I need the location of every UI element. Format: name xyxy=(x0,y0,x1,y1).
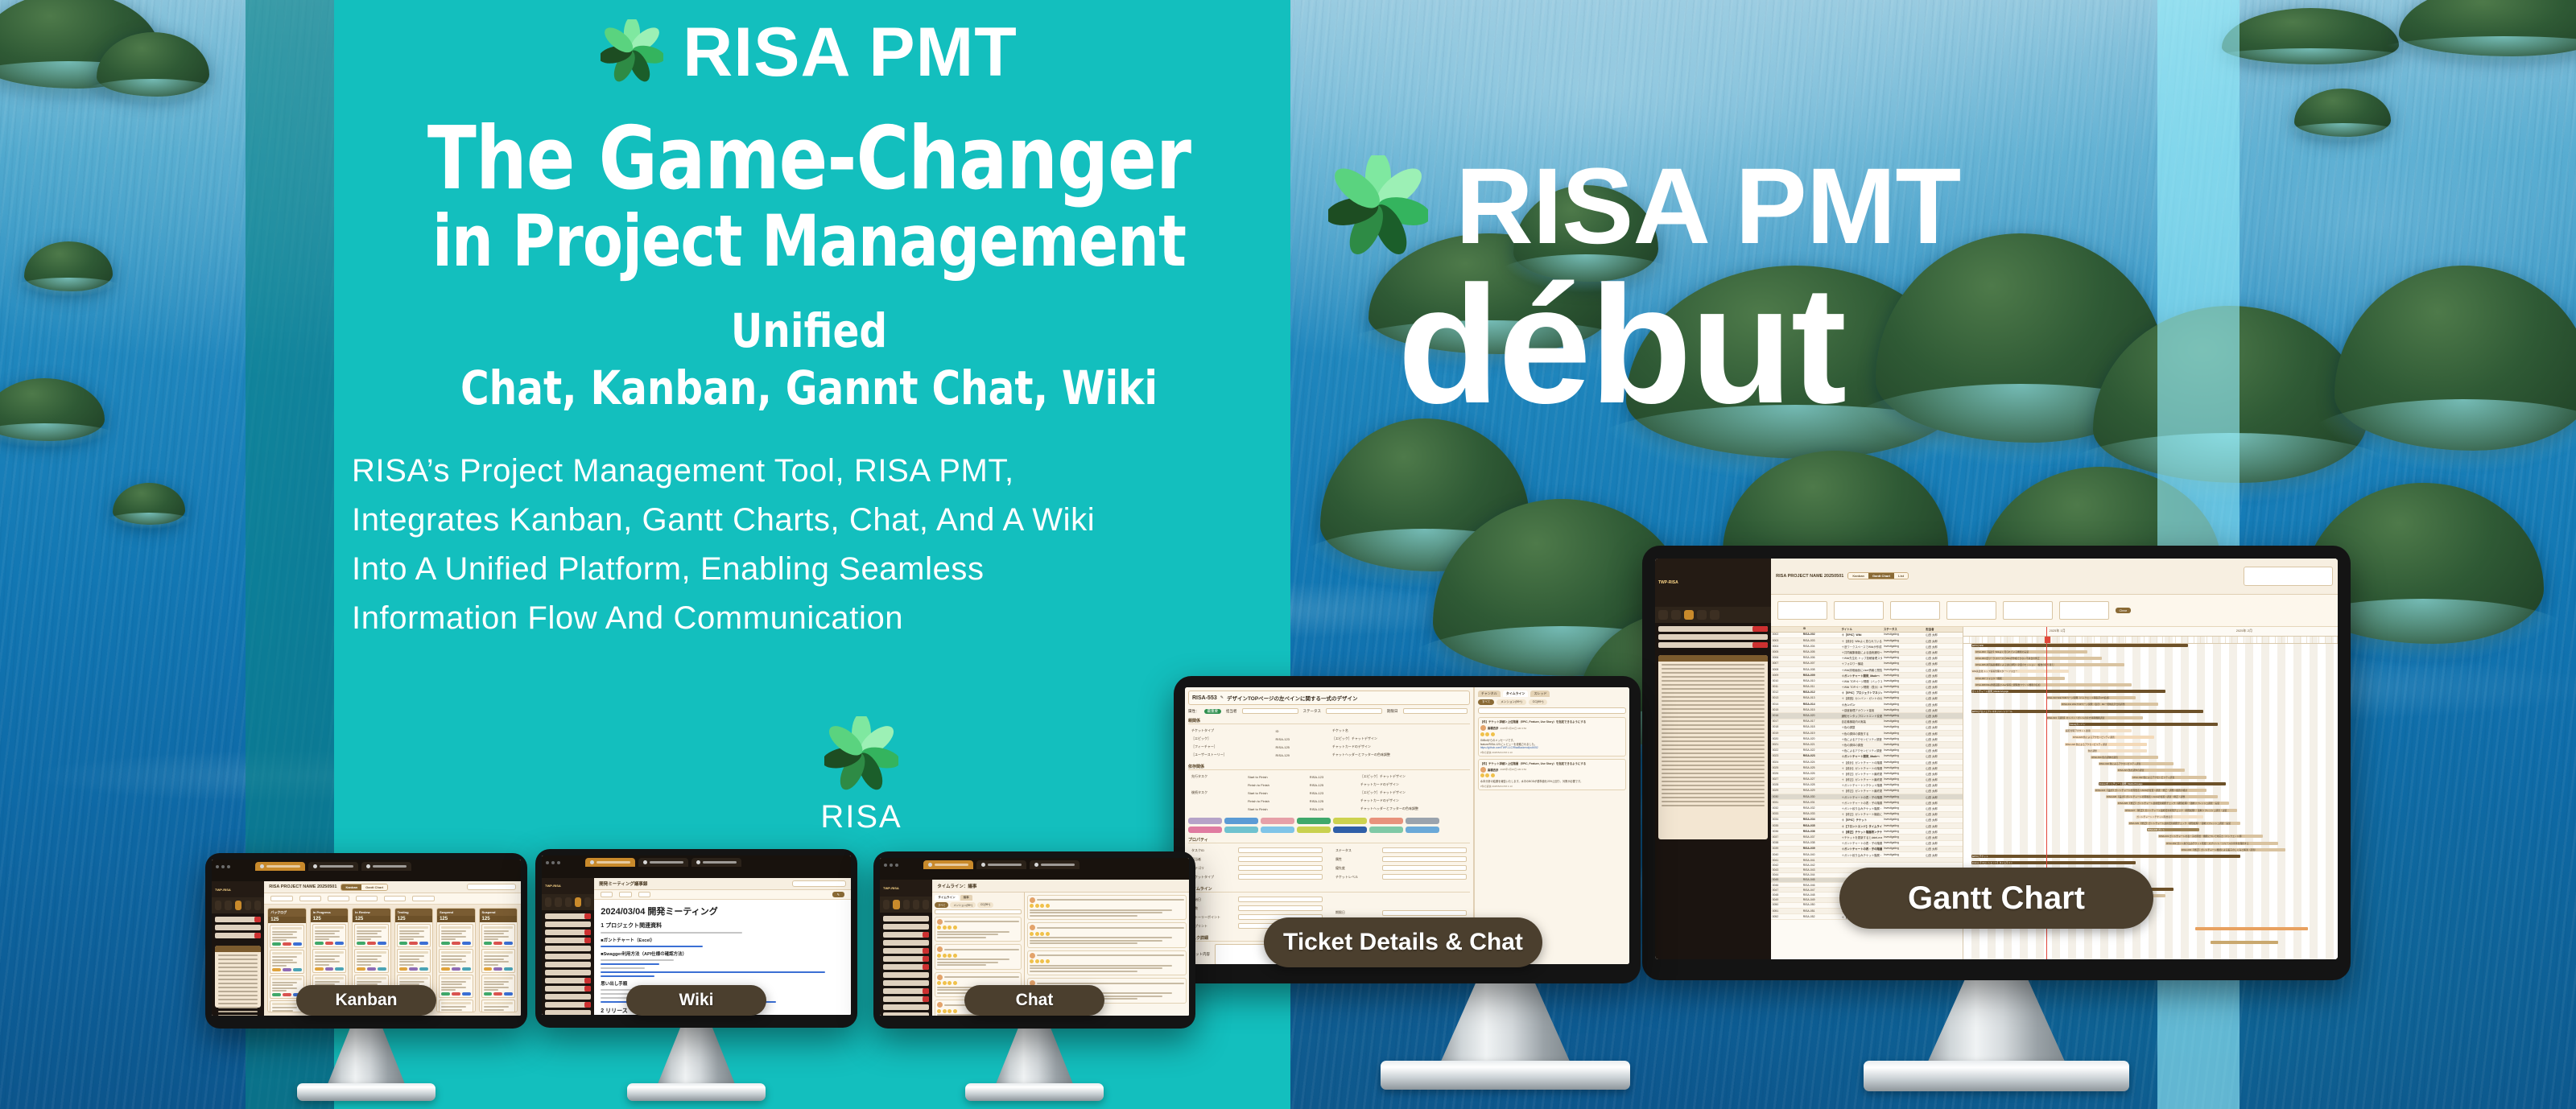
risa-watermark: RISA xyxy=(785,716,938,835)
list-item[interactable] xyxy=(883,996,929,1002)
avatar xyxy=(937,946,943,952)
gantt-row[interactable]: 0022RISA-022＋色によるアクセンビリティ調査Investigating… xyxy=(1771,748,1963,754)
tab-timeline[interactable]: タイムライン xyxy=(935,895,958,901)
sidebar-wiki-tree[interactable] xyxy=(542,910,594,1015)
kanban-card[interactable] xyxy=(270,925,303,949)
gantt-row[interactable]: 0030RISA-030＋ガントチャートの表・子の階層・階級Investigat… xyxy=(1771,794,1963,800)
gantt-row[interactable]: 0012RISA-012＋［EPIC］プロジェクトマネジメントツールInvest… xyxy=(1771,691,1963,696)
filter-release[interactable] xyxy=(2059,601,2109,620)
filter-ticket-level[interactable] xyxy=(1777,601,1827,620)
list-item[interactable] xyxy=(545,994,591,1000)
gantt-bar[interactable]: [EPIC]プロジェクトマネジメントツール xyxy=(1971,710,2203,713)
tab-gantt[interactable]: Gantt Chart xyxy=(1868,573,1894,579)
gantt-row[interactable]: 0023RISA-023＋ガントチャート開発_Made～Investigatin… xyxy=(1771,754,1963,760)
gantt-row[interactable]: 0010RISA-010＋Wiki TOPページ開発（バックエンド用）Inves… xyxy=(1771,678,1963,684)
gantt-bar[interactable]: ガントチャート開発_MaidenVoyage xyxy=(1971,690,2166,693)
gantt-bar[interactable]: RISA-029 【修正】ガントチャート最終更新期限チェック（期限処理）・強制リ… xyxy=(2128,822,2240,825)
gantt-bar[interactable]: RISA-026 【修正】ガントチャート最終更新期限チェック（期限処理）・強制リ… xyxy=(2117,802,2229,805)
gantt-bar[interactable]: RISA-024 【設計】ガントチャートの階層表＞AGGの位置＞調査・修正・調整… xyxy=(2095,789,2207,792)
ticket-label-chip[interactable] xyxy=(1406,827,1439,833)
ticket-id: RISA-553 xyxy=(1192,695,1217,701)
chat-message[interactable] xyxy=(1027,922,1187,948)
ticket-label-chip[interactable] xyxy=(1188,818,1222,824)
row-number: 0041 xyxy=(1771,858,1802,862)
gantt-bar[interactable]: RISA-033 【修正】ガントチャート機能による差子のしくみと解消（調査） xyxy=(2181,848,2285,851)
card-chip xyxy=(283,993,291,996)
card-chip-row xyxy=(357,942,386,945)
sidebar-manual-header xyxy=(1658,655,1768,662)
ticket-label-chip[interactable] xyxy=(1369,827,1403,833)
kanban-card[interactable] xyxy=(354,924,388,948)
sidebar-item-tracking[interactable] xyxy=(1684,610,1694,620)
kanban-card[interactable] xyxy=(481,1000,515,1012)
kanban-card-list[interactable] xyxy=(437,922,474,1012)
wiki-link[interactable] xyxy=(601,963,659,966)
filter-mention[interactable]: メンション(99+) xyxy=(950,902,975,908)
sidebar-item-chat[interactable] xyxy=(555,897,561,907)
project-topbar: RISA PROJECT NAME 20250501 Kanban Gantt … xyxy=(1771,559,2338,595)
gantt-row[interactable]: 0040RISA-040＋ガント絞り込みチケット階層・ユ～Investigati… xyxy=(1771,852,1963,858)
gantt-row[interactable]: 0005RISA-005＋共同編集機能による連続通知～全面の～Investiga… xyxy=(1771,649,1963,655)
ticket-label-chip[interactable] xyxy=(1224,827,1258,833)
list-item[interactable] xyxy=(883,1004,929,1010)
sidebar-item-wiki[interactable] xyxy=(1697,610,1707,620)
ticket-label-chip[interactable] xyxy=(1333,818,1367,824)
body-copy: RISA’s Project Management Tool, RISA PMT… xyxy=(334,447,1284,642)
gantt-bar[interactable]: 色の調整 xyxy=(2087,749,2147,752)
gantt-bar[interactable]: RISA-007 フォロワー機能 xyxy=(1975,677,2064,680)
sidebar-item-tracking[interactable] xyxy=(565,897,572,907)
gantt-bar[interactable]: RISA-025 【設計】ガントチャートの階層表＞AGGの位置＞調査・修正・調整 xyxy=(2106,795,2218,798)
gantt-row[interactable]: 0007RISA-007＋フォロワー機能Investigating山田 太郎 xyxy=(1771,662,1963,667)
gantt-bar[interactable]: RISA-031 ガントチャートの表・子の階層・機能について対応さ（バックエンド… xyxy=(2158,835,2263,838)
day-cell xyxy=(2038,637,2045,643)
monitor-stand-kanban xyxy=(205,1026,527,1109)
reaction-row[interactable] xyxy=(937,926,1019,930)
gantt-row[interactable]: 0025RISA-025＋【設計】ガントチャートの階層表＞AGG～Investi… xyxy=(1771,765,1963,771)
message-reply-meta[interactable]: 3件の返信 2025/5/24 PM 1:13 xyxy=(1480,785,1624,788)
gantt-row[interactable]: 0037RISA-037＋チケットを更新するとdateLevelがない～Inve… xyxy=(1771,835,1963,840)
browser-tabs[interactable] xyxy=(255,862,411,871)
list-item[interactable] xyxy=(215,917,261,922)
list-item[interactable] xyxy=(545,986,591,992)
list-item[interactable] xyxy=(545,1002,591,1008)
search-input[interactable] xyxy=(467,884,516,890)
browser-tab[interactable] xyxy=(255,862,305,871)
browser-tab[interactable] xyxy=(976,860,1026,869)
gantt-row[interactable]: 0031RISA-031＋ガントチャートの表・子の階層・階級Investigat… xyxy=(1771,800,1963,806)
row-number: 0040 xyxy=(1771,852,1802,857)
priority-label: 属性： xyxy=(1188,709,1199,714)
kanban-card[interactable] xyxy=(270,950,303,974)
search-input[interactable] xyxy=(792,880,846,887)
message-link[interactable]: https://github.com/TWP-LLC/RisaBackend/p… xyxy=(1480,746,1624,749)
row-assignee: 山田 太郎 xyxy=(1925,754,1963,759)
row-title: ＋旧ワークスペースでWikiが作成できない xyxy=(1840,644,1882,649)
list-item[interactable] xyxy=(215,933,261,938)
list-item[interactable] xyxy=(545,938,591,943)
ticket-label-chip[interactable] xyxy=(1333,827,1367,833)
gantt-bar[interactable]: ガントチャート＞チケット階層表示 xyxy=(2136,815,2203,818)
wiki-link[interactable] xyxy=(601,971,825,974)
gantt-bar[interactable]: RISA-020 色によるアクセンビリティ調査 xyxy=(2065,743,2147,746)
reaction-row[interactable] xyxy=(1480,773,1624,777)
kanban-card-list[interactable] xyxy=(480,922,517,1012)
row-id: RISA-017 xyxy=(1802,719,1840,724)
list-item[interactable] xyxy=(545,913,591,919)
gantt-row[interactable]: 0027RISA-027＋【修正】ガントチャート最終更新期限チ～Investig… xyxy=(1771,777,1963,783)
list-item[interactable] xyxy=(883,940,929,946)
chat-message-list: 【件】チケット詳細＞上位階層（EPIC, Feature, Use Story）… xyxy=(1478,717,1626,790)
gantt-row[interactable]: 0002RISA-002＋［EPIC］WikiInvestigating山田 太… xyxy=(1771,633,1963,638)
gantt-row[interactable]: 0028RISA-028＋ガントチャート＞チケット階層表示～Investigat… xyxy=(1771,783,1963,789)
sidebar-item-tracking[interactable] xyxy=(903,900,910,909)
kanban-column-count: 125 xyxy=(353,916,390,922)
sidebar-item-wiki[interactable] xyxy=(245,901,251,910)
wiki-edit-button[interactable]: ✎ xyxy=(832,892,844,897)
stand-neck xyxy=(996,1026,1073,1084)
day-cell xyxy=(2001,637,2008,643)
gantt-row[interactable]: 0026RISA-026＋【修正】ガントチャート最終更新期限チーInvestig… xyxy=(1771,771,1963,777)
gantt-row[interactable]: 0029RISA-029＋【修正】ガントチャート最終更新期限チ～Investig… xyxy=(1771,789,1963,794)
day-cell xyxy=(2058,637,2064,643)
chat-tabs[interactable]: チャンネル タイムライン スレッド xyxy=(1478,691,1626,697)
kanban-card[interactable] xyxy=(439,924,473,948)
filter-cc[interactable]: CC(99+) xyxy=(977,902,993,908)
browser-tab[interactable] xyxy=(308,862,358,871)
browser-chrome xyxy=(212,860,521,881)
kanban-card[interactable] xyxy=(397,949,431,973)
list-item[interactable] xyxy=(883,956,929,962)
label-pill-kanban: Kanban xyxy=(296,985,436,1016)
gantt-bar[interactable]: RISA-021 色の調体の調査 xyxy=(2117,769,2185,772)
list-item[interactable] xyxy=(545,978,591,983)
filter-status[interactable] xyxy=(1946,601,1996,620)
gantt-bar[interactable]: [EPIC] チケット xyxy=(1971,855,2240,858)
gantt-bar[interactable]: RISA-020 色によるアクセンビリティ調査 xyxy=(2072,736,2154,739)
sidebar-project-list[interactable] xyxy=(212,913,264,942)
browser-tab[interactable] xyxy=(1030,860,1080,869)
browser-tab[interactable] xyxy=(361,862,411,871)
kanban-card[interactable] xyxy=(354,949,388,973)
window-controls[interactable] xyxy=(884,864,898,867)
chat-message[interactable]: 【件】チケット詳細＞上位階層（EPIC, Feature, Use Story）… xyxy=(1478,717,1626,757)
gantt-row[interactable]: 0016RISA-020通知センタップロントエンド変更Investigating… xyxy=(1771,713,1963,719)
gantt-bar[interactable]: RISA-004 旧ワークスペースでWikiが作成できない不具合の修正 xyxy=(1975,657,2102,660)
day-cell xyxy=(1976,637,1983,643)
gantt-row[interactable]: 0011RISA-011＋Wiki TOPページ開発（表示）Mk一規制Inves… xyxy=(1771,685,1963,691)
sidebar-item-workflow[interactable] xyxy=(584,897,591,907)
wiki-link[interactable] xyxy=(601,975,654,978)
chat-search-input[interactable] xyxy=(1478,707,1626,714)
filter-bar[interactable] xyxy=(264,893,521,904)
gantt-bar[interactable]: [EPIC] Wiki xyxy=(1971,644,2188,647)
browser-tab[interactable] xyxy=(638,858,688,867)
sidebar-item-workflow[interactable] xyxy=(923,900,929,909)
reaction-row[interactable] xyxy=(1030,959,1184,963)
assignee-select[interactable] xyxy=(1242,708,1298,714)
gantt-bar[interactable]: RISA-008 Wiki詳細画面にUser情報と閲覧数カウント機能の追加 xyxy=(1975,683,2132,686)
tab-channel[interactable]: チャンネル xyxy=(1478,691,1501,697)
tab-minutes[interactable]: 議事 xyxy=(960,895,972,901)
month-label: 2025年 2月 xyxy=(2236,629,2252,633)
sidebar-channel-list[interactable] xyxy=(880,913,932,1016)
gantt-row[interactable]: 0039RISA-039＋ガントチャートの表・子の階層・機能Investigat… xyxy=(1771,847,1963,852)
due-date-input[interactable] xyxy=(1403,708,1468,714)
kanban-card[interactable] xyxy=(481,924,515,948)
kanban-card[interactable] xyxy=(312,949,346,973)
gantt-bar[interactable]: RISA-027 【修正】ガントチャート最終更新期限チェック（期限処理）・強制リ… xyxy=(2124,809,2236,812)
list-item[interactable] xyxy=(883,972,929,978)
ticket-label-chip[interactable] xyxy=(1406,818,1439,824)
sidebar-nav[interactable] xyxy=(212,897,264,913)
sidebar-item-home[interactable] xyxy=(545,897,551,907)
filter-assignee[interactable] xyxy=(2003,601,2053,620)
stand-base xyxy=(297,1083,436,1101)
chat-message[interactable] xyxy=(1027,950,1187,976)
wiki-toolbar[interactable]: ✎ xyxy=(594,890,851,900)
row-id: RISA-025 xyxy=(1802,765,1840,770)
kanban-card[interactable] xyxy=(439,949,473,973)
card-chip xyxy=(325,942,334,945)
gantt-row[interactable]: 0033RISA-033＋【修正】ガントチャート機能による差子～Investig… xyxy=(1771,812,1963,818)
chat-search-input[interactable] xyxy=(935,909,1022,914)
project-name: RISA PROJECT NAME 20250501 xyxy=(269,884,336,889)
gantt-row[interactable]: 0038RISA-038＋ガントチャートの表・子の階層・機能にInvestiga… xyxy=(1771,841,1963,847)
list-item[interactable] xyxy=(1658,634,1768,640)
gantt-bar[interactable]: RISA-010 Wiki TOPページ開発（バックエンド用表示API追加） xyxy=(2046,696,2136,699)
gantt-bar[interactable]: 感度管理アカウント運用 xyxy=(2065,729,2132,732)
sidebar-item-home[interactable] xyxy=(1658,610,1668,620)
gantt-row[interactable]: 0015RISA-015＋感度管理アカウント運用Investigating山田 … xyxy=(1771,707,1963,713)
list-item[interactable] xyxy=(545,962,591,967)
kanban-card[interactable] xyxy=(439,975,473,999)
kanban-card[interactable] xyxy=(312,924,346,948)
browser-tab[interactable] xyxy=(691,858,741,867)
row-title: ＋［EPIC］Wiki xyxy=(1840,633,1882,637)
chat-tabs[interactable]: タイムライン 議事 xyxy=(935,895,1022,901)
tab-list[interactable]: List xyxy=(1894,573,1908,579)
kanban-card[interactable] xyxy=(397,924,431,948)
sidebar-item-chat[interactable] xyxy=(893,900,899,909)
gantt-bar[interactable]: [future]ガントチャート開発_MaidenVoyage xyxy=(2099,782,2226,785)
kanban-card[interactable] xyxy=(481,975,515,999)
sidebar-item-chat[interactable] xyxy=(225,901,231,910)
list-item[interactable] xyxy=(545,930,591,935)
gantt-bar[interactable]: RISA-032 ガント絞り込みチケット階層・スプリント・リリースの条件を保持す… xyxy=(2165,842,2277,845)
row-id: RISA-045 xyxy=(1802,878,1840,882)
sidebar-item-workflow[interactable] xyxy=(1710,610,1719,620)
tab-kanban[interactable]: Kanban xyxy=(341,884,361,890)
row-title: 通知センタップロントエンド変更 xyxy=(1840,713,1882,718)
gantt-bar[interactable]: RISA-022 色によるアクセンビリティ調査 xyxy=(2132,776,2207,779)
kanban-card[interactable] xyxy=(481,949,515,973)
kanban-column[interactable]: Suspend125 xyxy=(479,908,518,1012)
gantt-row[interactable]: 0021RISA-021＋色の調体の調査Investigating山田 太郎 xyxy=(1771,742,1963,748)
list-item[interactable] xyxy=(215,925,261,930)
ticket-label-chip[interactable] xyxy=(1261,818,1294,824)
tab-kanban[interactable]: Kanban xyxy=(1848,573,1868,579)
ticket-label-chip[interactable] xyxy=(1297,827,1331,833)
filter-all[interactable]: すべて xyxy=(935,902,948,908)
gantt-row[interactable]: 0009RISA-009＋ガントチャート開発_Made～Investigatin… xyxy=(1771,673,1963,678)
gantt-row[interactable]: 0017RISA-017自定義機能内の実装Investigating山田 太郎 xyxy=(1771,719,1963,725)
gantt-bar[interactable]: Wiki先生化 トップ投稿管理スター～フォロー xyxy=(1971,670,2069,673)
card-chip xyxy=(419,967,428,971)
status-select[interactable] xyxy=(1326,708,1382,714)
list-item[interactable] xyxy=(883,1012,929,1016)
stand-base xyxy=(1381,1061,1630,1090)
kanban-column[interactable]: Suspend125 xyxy=(436,908,475,1012)
filter-sprint[interactable] xyxy=(1890,601,1940,620)
gantt-bar[interactable]: RISA-019 色の調体の調査 xyxy=(2091,756,2158,759)
browser-tab[interactable] xyxy=(585,858,635,867)
sidebar-item-home[interactable] xyxy=(883,900,890,909)
wiki-link[interactable] xyxy=(601,946,703,948)
gantt-row[interactable]: 0018RISA-018＋色の調整Investigating山田 太郎 xyxy=(1771,725,1963,731)
view-switcher[interactable]: Kanban Gantt Chart xyxy=(341,884,388,891)
gantt-bar[interactable] xyxy=(2195,927,2307,930)
list-item[interactable] xyxy=(1658,642,1768,648)
list-item[interactable] xyxy=(545,1010,591,1015)
reaction-row[interactable] xyxy=(1030,904,1184,908)
reaction-row[interactable] xyxy=(1480,732,1624,736)
list-item[interactable] xyxy=(545,921,591,927)
browser-tabs[interactable] xyxy=(585,858,741,867)
card-chip xyxy=(493,942,502,945)
chat-message[interactable]: 【件】チケット詳細＞上位階層（EPIC, Feature, Use Story）… xyxy=(1478,759,1626,791)
ticket-label-chip[interactable] xyxy=(1369,818,1403,824)
row-id: RISA-042 xyxy=(1802,863,1840,867)
sidebar-item-home[interactable] xyxy=(215,901,221,910)
sidebar-item-wiki[interactable] xyxy=(575,897,581,907)
list-item[interactable] xyxy=(883,932,929,938)
gantt-row[interactable]: 0013RISA-013＋【調査】カンバン・ガントの片方専用～Investiga… xyxy=(1771,696,1963,702)
list-item[interactable] xyxy=(883,948,929,954)
gantt-row[interactable]: 0006RISA-006＋Wiki先生化 トップ投稿管理スター～Investig… xyxy=(1771,656,1963,662)
card-chip xyxy=(409,942,418,945)
sidebar-item-workflow[interactable] xyxy=(254,901,261,910)
sidebar-nav[interactable] xyxy=(542,894,594,910)
reaction-row[interactable] xyxy=(937,954,1019,958)
gantt-row[interactable]: 0024RISA-024＋【設計】ガントチャートの階層表＞AGG～Investi… xyxy=(1771,760,1963,765)
chat-message[interactable] xyxy=(935,917,1022,942)
sidebar-item-chat[interactable] xyxy=(1671,610,1681,620)
message-reply-meta[interactable]: 3件の返信 2025/5/24 PM 1:13 xyxy=(1480,751,1624,754)
ticket-label-chips[interactable] xyxy=(1188,818,1470,833)
chat-message[interactable] xyxy=(935,944,1022,970)
row-title: ＋【修正】ガントチャート最終更新期限チー xyxy=(1840,771,1882,776)
row-number: 0026 xyxy=(1771,771,1802,776)
gantt-row[interactable]: 0003RISA-003＋【設計】Wikiよく見られている機能の実装Invest… xyxy=(1771,638,1963,644)
filter-due-range[interactable] xyxy=(1834,601,1884,620)
reaction-row[interactable] xyxy=(1030,932,1184,936)
list-item[interactable] xyxy=(883,924,929,930)
filter-bar[interactable]: Clear xyxy=(1771,595,2338,627)
ticket-label-chip[interactable] xyxy=(1188,827,1222,833)
filter-mention[interactable]: メンション(99+) xyxy=(1496,699,1525,705)
view-switcher[interactable]: Kanban Gantt Chart List xyxy=(1847,572,1909,579)
gantt-bar[interactable]: RISA-020 色によるアクセンビリティ調査 xyxy=(2099,762,2173,765)
row-status: Investigating xyxy=(1882,633,1924,637)
list-item[interactable] xyxy=(883,988,929,994)
gantt-row[interactable]: 0032RISA-032＋ガント絞り込みチケット階層・ユ～Investigati… xyxy=(1771,806,1963,811)
gantt-row[interactable]: 0020RISA-020＋色によるアクセンビリティ調査Investigating… xyxy=(1771,736,1963,742)
sidebar-nav[interactable] xyxy=(880,897,932,913)
tab-thread[interactable]: スレッド xyxy=(1530,691,1550,697)
gantt-row[interactable]: 0019RISA-019＋色の調体の調査するInvestigating山田 太郎 xyxy=(1771,731,1963,736)
search-input[interactable] xyxy=(2244,567,2333,587)
filter-cc[interactable]: CC(99+) xyxy=(1529,699,1548,705)
gantt-bar[interactable]: RISA-005 共同編集機能による連続通知～全面のセッション（複数の切り替え） xyxy=(1975,663,2124,666)
sidebar-item-tracking[interactable] xyxy=(235,901,242,910)
gantt-bar[interactable]: [future]カンバン xyxy=(2069,723,2219,726)
list-item[interactable] xyxy=(883,916,929,921)
row-status: Investigating xyxy=(1882,806,1924,810)
filter-all[interactable]: すべて xyxy=(1478,699,1494,705)
row-assignee: 山田 太郎 xyxy=(1925,748,1963,753)
card-chip xyxy=(493,967,502,971)
clear-filters-button[interactable]: Clear xyxy=(2116,608,2132,613)
row-number: 0007 xyxy=(1771,662,1802,666)
list-item[interactable] xyxy=(545,946,591,951)
list-item[interactable] xyxy=(883,964,929,970)
chat-filters[interactable]: すべて メンション(99+) CC(99+) xyxy=(935,902,1022,908)
edit-icon[interactable]: ✎ xyxy=(1220,695,1224,700)
browser-tab[interactable] xyxy=(923,860,973,869)
gantt-row[interactable]: 0034RISA-034＋［EPIC］チケットInvestigating山田 太… xyxy=(1771,818,1963,823)
gantt-bar[interactable]: RISA-030 ガント xyxy=(2147,828,2199,831)
chat-message[interactable] xyxy=(1027,895,1187,921)
window-controls[interactable] xyxy=(216,865,230,868)
kanban-card[interactable] xyxy=(439,1000,473,1012)
gantt-row[interactable]: 0004RISA-004＋旧ワークスペースでWikiが作成できないInvesti… xyxy=(1771,644,1963,649)
list-item[interactable] xyxy=(1658,626,1768,632)
gantt-bar[interactable]: RISA-013 【調査】カンバン・ガントの片方専用機能調査 xyxy=(2046,716,2144,719)
list-item[interactable] xyxy=(883,980,929,986)
ticket-label-chip[interactable] xyxy=(1224,818,1258,824)
list-item[interactable] xyxy=(545,970,591,975)
ticket-label-chip[interactable] xyxy=(1297,818,1331,824)
monitor-stand-chat xyxy=(873,1026,1195,1109)
ticket-label-chip[interactable] xyxy=(1261,827,1294,833)
gantt-row[interactable]: 0014RISA-014＋カンバンInvestigating山田 太郎 xyxy=(1771,702,1963,707)
list-item[interactable] xyxy=(545,954,591,959)
sidebar-item-wiki[interactable] xyxy=(913,900,919,909)
row-id: RISA-010 xyxy=(1802,678,1840,683)
table-row: ［ユーザーストーリー］RISA-129チャットヘッダーとフッターの色味調整 xyxy=(1190,752,1468,758)
sidebar-nav[interactable] xyxy=(1655,607,1771,623)
window-controls[interactable] xyxy=(546,861,560,864)
tab-gantt[interactable]: Gantt Chart xyxy=(361,884,387,890)
gantt-row[interactable]: 0035RISA-035＋【フロントエンド】タイムラインInvestigatin… xyxy=(1771,823,1963,829)
browser-tabs[interactable] xyxy=(923,860,1080,869)
card-chip xyxy=(504,967,513,971)
row-number: 0032 xyxy=(1771,806,1802,810)
chat-filters[interactable]: すべて メンション(99+) CC(99+) xyxy=(1478,699,1626,705)
gantt-bar[interactable]: RISA-011 Wiki TOPページ開発（表示）Mk一規制表示仕様調整 xyxy=(2061,703,2158,706)
gantt-row[interactable]: 0036RISA-036＋【修正】チケット階層表＞チケットInvestigati… xyxy=(1771,829,1963,835)
tab-timeline[interactable]: タイムライン xyxy=(1503,691,1529,697)
row-number: 0051 xyxy=(1771,909,1802,913)
sidebar-project-list[interactable] xyxy=(1655,623,1771,651)
gantt-row[interactable]: 0008RISA-008＋Wiki詳細画面にUser情報と閲覧数カウントInve… xyxy=(1771,667,1963,673)
gantt-bar[interactable]: RISA-003 【設計】Wikiよく見られている機能の実装 xyxy=(1975,650,2087,653)
gantt-bar[interactable]: [future]【フロントエンド】タイムライン xyxy=(1971,861,2136,864)
day-cell xyxy=(2151,637,2157,643)
wiki-heading: 1 プロジェクト関連資料 xyxy=(601,921,844,930)
gantt-bar[interactable] xyxy=(2211,941,2278,944)
